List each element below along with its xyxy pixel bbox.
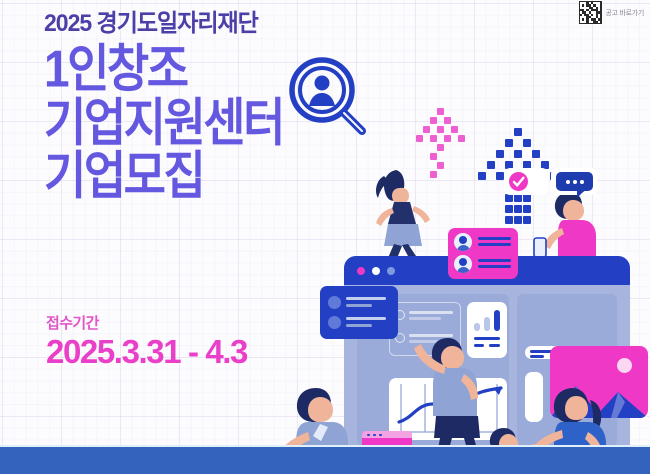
- person-search-icon: [286, 56, 370, 138]
- browser-dot-blue: [387, 267, 395, 275]
- application-period-block: 접수기간 2025.3.31 - 4.3: [46, 316, 247, 370]
- qr-code-icon[interactable]: [579, 1, 602, 24]
- check-circle-card: [504, 168, 548, 195]
- date-value: 2025.3.31 - 4.3: [46, 334, 247, 371]
- qr-link-badge[interactable]: 공고 바로가기: [579, 1, 645, 24]
- floor-band: [0, 445, 650, 474]
- check-circle-icon: [509, 172, 528, 191]
- headline-line-3: 기업모집: [44, 151, 374, 202]
- chat-bubble-card: [551, 168, 597, 195]
- contacts-card: [448, 228, 518, 279]
- browser-dot-white: [372, 267, 380, 275]
- date-label: 접수기간: [46, 316, 247, 333]
- chat-bubble-tail: [577, 189, 587, 198]
- poster-canvas: </>: [0, 0, 650, 474]
- person-running-woman: [370, 166, 446, 266]
- browser-dot-pink: [357, 267, 365, 275]
- kicker-text: 2025 경기도일자리재단: [44, 10, 374, 37]
- qr-link-label[interactable]: 공고 바로가기: [606, 8, 645, 18]
- sun-shape: [617, 358, 632, 373]
- chat-bubble-icon: [556, 172, 593, 191]
- notification-list-card: [320, 286, 398, 339]
